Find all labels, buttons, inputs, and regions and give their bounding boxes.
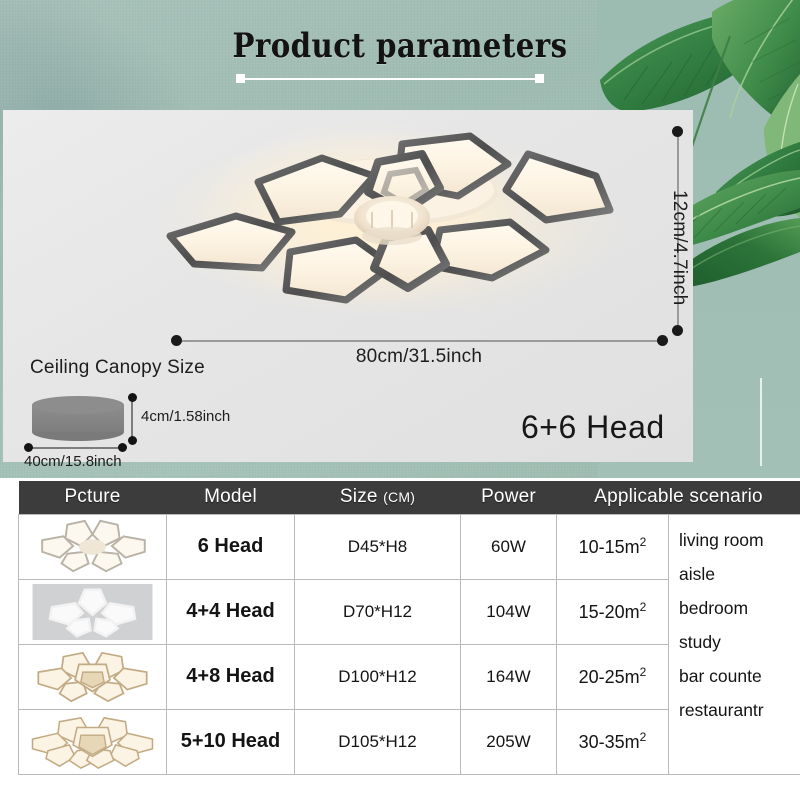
size-cell: D105*H12 xyxy=(295,709,461,774)
scenario-item: living room xyxy=(679,523,800,557)
column-header-model: Model xyxy=(167,481,295,514)
column-header-size-unit: (CM) xyxy=(383,489,415,505)
area-value: 30-35m xyxy=(579,732,640,752)
height-dimension-label: 12cm/4.7inch xyxy=(668,190,690,305)
canopy-height-dot-bottom xyxy=(128,436,137,445)
width-dim-dot-right xyxy=(657,335,668,346)
table-row: 6 Head D45*H8 60W 10-15m2 living room ai… xyxy=(19,514,800,579)
area-superscript: 2 xyxy=(640,665,647,679)
head-count-badge: 6+6 Head xyxy=(521,409,665,446)
height-dim-dot-bottom xyxy=(672,325,683,336)
scenario-cell: living room aisle bedroom study bar coun… xyxy=(669,514,800,774)
scenario-item: aisle xyxy=(679,557,800,591)
scenario-item: bar counte xyxy=(679,659,800,693)
canopy-diameter-dot-right xyxy=(118,443,127,452)
column-header-size-text: Size xyxy=(340,486,383,507)
area-cell: 30-35m2 xyxy=(557,709,669,774)
scenario-item: bedroom xyxy=(679,591,800,625)
product-thumbnail-6-head xyxy=(19,514,167,579)
size-cell: D70*H12 xyxy=(295,579,461,644)
height-dim-dot-top xyxy=(672,126,683,137)
canopy-diameter-dot-left xyxy=(24,443,33,452)
product-thumbnail-4-4-head xyxy=(19,579,167,644)
area-superscript: 2 xyxy=(640,600,647,614)
product-thumbnail-4-8-head xyxy=(19,644,167,709)
canopy-diameter-line xyxy=(28,447,124,449)
size-cell: D45*H8 xyxy=(295,514,461,579)
model-cell: 4+8 Head xyxy=(167,644,295,709)
canopy-height-line xyxy=(131,398,133,440)
title-rule-cap-right xyxy=(535,74,544,83)
title-underline-decoration xyxy=(236,74,544,84)
title-rule-bar xyxy=(244,78,536,80)
column-header-size: Size (CM) xyxy=(295,481,461,514)
column-header-applicable-scenario: Applicable scenario xyxy=(557,481,800,514)
power-cell: 60W xyxy=(461,514,557,579)
canopy-size-title: Ceiling Canopy Size xyxy=(30,357,205,379)
page-title: Product parameters xyxy=(56,26,744,66)
canopy-diameter-label: 40cm/15.8inch xyxy=(24,453,122,470)
width-dimension-line xyxy=(176,340,662,342)
scenario-item: study xyxy=(679,625,800,659)
power-cell: 205W xyxy=(461,709,557,774)
area-value: 15-20m xyxy=(579,602,640,622)
column-header-power: Power xyxy=(461,481,557,514)
scenario-item: restaurantr xyxy=(679,693,800,727)
model-cell: 4+4 Head xyxy=(167,579,295,644)
product-parameters-page: Product parameters xyxy=(0,0,800,800)
area-cell: 10-15m2 xyxy=(557,514,669,579)
canopy-height-label: 4cm/1.58inch xyxy=(141,408,230,425)
hero-accent-line xyxy=(760,378,762,466)
area-cell: 20-25m2 xyxy=(557,644,669,709)
column-header-picture: Pcture xyxy=(19,481,167,514)
specifications-table: Pcture Model Size (CM) Power Applicable … xyxy=(18,481,800,775)
width-dim-dot-left xyxy=(171,335,182,346)
canopy-height-dot-top xyxy=(128,393,137,402)
canopy-cylinder-illustration xyxy=(32,396,124,440)
table-header-row: Pcture Model Size (CM) Power Applicable … xyxy=(19,481,800,514)
area-superscript: 2 xyxy=(640,535,647,549)
product-thumbnail-5-10-head xyxy=(19,709,167,774)
power-cell: 164W xyxy=(461,644,557,709)
area-superscript: 2 xyxy=(640,730,647,744)
area-cell: 15-20m2 xyxy=(557,579,669,644)
area-value: 10-15m xyxy=(579,537,640,557)
area-value: 20-25m xyxy=(579,667,640,687)
model-cell: 5+10 Head xyxy=(167,709,295,774)
size-cell: D100*H12 xyxy=(295,644,461,709)
width-dimension-label: 80cm/31.5inch xyxy=(176,346,662,368)
ceiling-lamp-product-photo xyxy=(140,118,640,333)
power-cell: 104W xyxy=(461,579,557,644)
model-cell: 6 Head xyxy=(167,514,295,579)
